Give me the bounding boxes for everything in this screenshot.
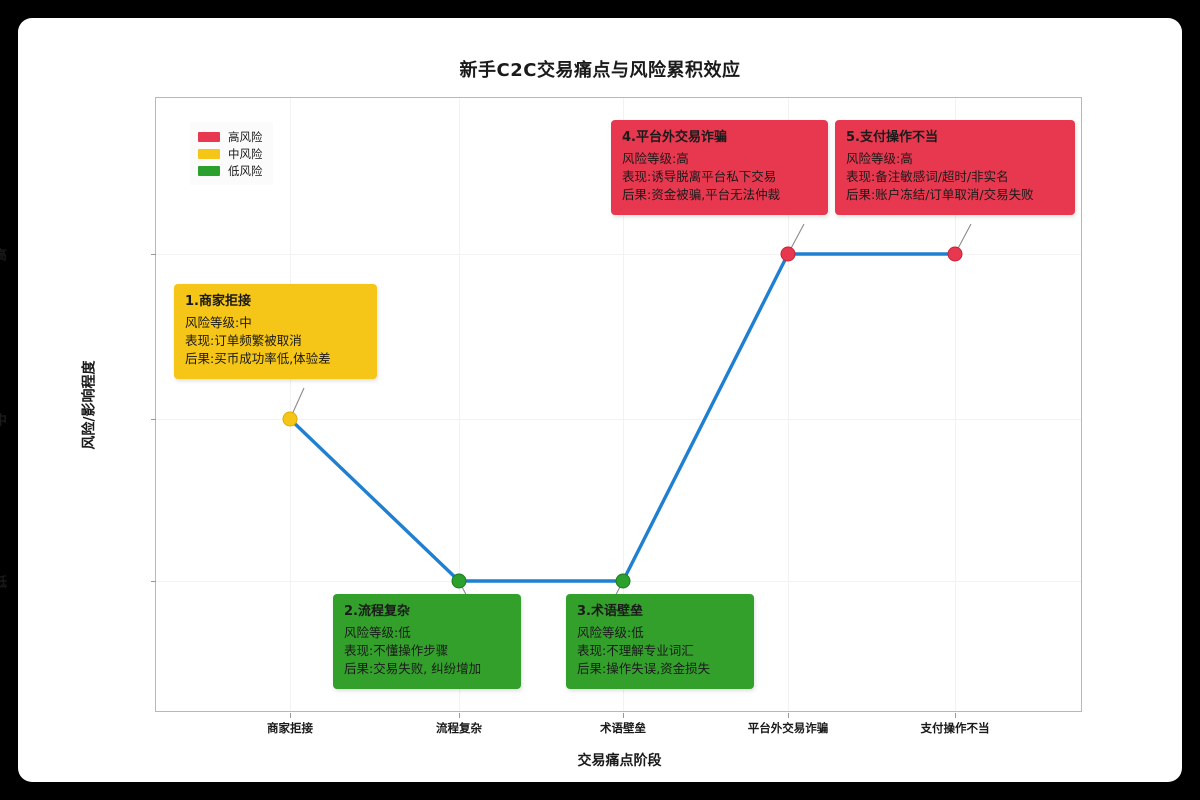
annotation-1-symptom: 表现:订单频繁被取消: [185, 332, 366, 350]
y-axis-label: 风险/影响程度: [79, 360, 99, 449]
y-tick-label-mid: 中: [0, 410, 7, 429]
data-point-5[interactable]: [948, 247, 963, 262]
annotation-1-risk-level: 风险等级:中: [185, 314, 366, 332]
legend-swatch-high-risk: [198, 132, 220, 142]
x-tick-mark: [623, 713, 624, 718]
y-tick-mark: [151, 581, 156, 582]
y-tick-label-low: 低: [0, 572, 7, 591]
annotation-4-title: 4.平台外交易诈骗: [622, 129, 817, 148]
annotation-1-consequence: 后果:买币成功率低,体验差: [185, 350, 366, 368]
x-tick-mark: [459, 713, 460, 718]
annotation-2-symptom: 表现:不懂操作步骤: [344, 642, 510, 660]
annotation-2-consequence: 后果:交易失败, 纠纷增加: [344, 660, 510, 678]
y-tick-mark: [151, 254, 156, 255]
annotation-3-consequence: 后果:操作失误,资金损失: [577, 660, 743, 678]
x-tick-mark: [290, 713, 291, 718]
annotation-5-consequence: 后果:账户冻结/订单取消/交易失败: [846, 186, 1064, 204]
legend-label-high-risk: 高风险: [228, 129, 263, 145]
annotation-3-symptom: 表现:不理解专业词汇: [577, 642, 743, 660]
x-tick-label-3: 平台外交易诈骗: [748, 720, 829, 736]
annotation-box-1[interactable]: 1.商家拒接 风险等级:中 表现:订单频繁被取消 后果:买币成功率低,体验差: [174, 284, 377, 379]
legend-item-low: 低风险: [198, 162, 263, 179]
x-tick-label-2: 术语壁垒: [600, 720, 646, 736]
legend-swatch-low-risk: [198, 166, 220, 176]
legend-swatch-mid-risk: [198, 149, 220, 159]
annotation-2-risk-level: 风险等级:低: [344, 624, 510, 642]
annotation-5-symptom: 表现:备注敏感词/超时/非实名: [846, 168, 1064, 186]
gridline-horizontal: [156, 254, 1081, 255]
annotation-5-title: 5.支付操作不当: [846, 129, 1064, 148]
y-tick-mark: [151, 419, 156, 420]
annotation-4-symptom: 表现:诱导脱离平台私下交易: [622, 168, 817, 186]
data-point-1[interactable]: [283, 412, 298, 427]
y-tick-label-high: 高: [0, 245, 7, 264]
x-tick-mark: [955, 713, 956, 718]
annotation-3-title: 3.术语壁垒: [577, 603, 743, 622]
x-tick-label-1: 流程复杂: [436, 720, 482, 736]
annotation-box-5[interactable]: 5.支付操作不当 风险等级:高 表现:备注敏感词/超时/非实名 后果:账户冻结/…: [835, 120, 1075, 215]
data-point-3[interactable]: [616, 574, 631, 589]
gridline-vertical: [290, 98, 291, 711]
plot-area: 高 中 低 商家拒接 流程复杂 术语壁垒 平台外交易诈骗 支付操作不当 交易痛点…: [155, 97, 1082, 712]
annotation-3-risk-level: 风险等级:低: [577, 624, 743, 642]
annotation-4-risk-level: 风险等级:高: [622, 150, 817, 168]
x-tick-label-0: 商家拒接: [267, 720, 313, 736]
x-tick-label-4: 支付操作不当: [921, 720, 990, 736]
figure-card: 新手C2C交易痛点与风险累积效应 高 中 低 商家拒接: [18, 18, 1182, 782]
annotation-1-title: 1.商家拒接: [185, 293, 366, 312]
chart-figure: 新手C2C交易痛点与风险累积效应 高 中 低 商家拒接: [18, 18, 1182, 782]
legend-item-high: 高风险: [198, 128, 263, 145]
annotation-box-3[interactable]: 3.术语壁垒 风险等级:低 表现:不理解专业词汇 后果:操作失误,资金损失: [566, 594, 754, 689]
annotation-box-2[interactable]: 2.流程复杂 风险等级:低 表现:不懂操作步骤 后果:交易失败, 纠纷增加: [333, 594, 521, 689]
legend-item-mid: 中风险: [198, 145, 263, 162]
data-point-4[interactable]: [781, 247, 796, 262]
annotation-5-risk-level: 风险等级:高: [846, 150, 1064, 168]
annotation-2-title: 2.流程复杂: [344, 603, 510, 622]
x-tick-mark: [788, 713, 789, 718]
annotation-4-consequence: 后果:资金被骗,平台无法仲裁: [622, 186, 817, 204]
legend-label-mid-risk: 中风险: [228, 146, 263, 162]
data-point-2[interactable]: [452, 574, 467, 589]
chart-legend: 高风险 中风险 低风险: [190, 122, 273, 185]
annotation-box-4[interactable]: 4.平台外交易诈骗 风险等级:高 表现:诱导脱离平台私下交易 后果:资金被骗,平…: [611, 120, 828, 215]
x-axis-label: 交易痛点阶段: [156, 750, 1083, 770]
chart-title: 新手C2C交易痛点与风险累积效应: [18, 56, 1182, 82]
legend-label-low-risk: 低风险: [228, 163, 263, 179]
